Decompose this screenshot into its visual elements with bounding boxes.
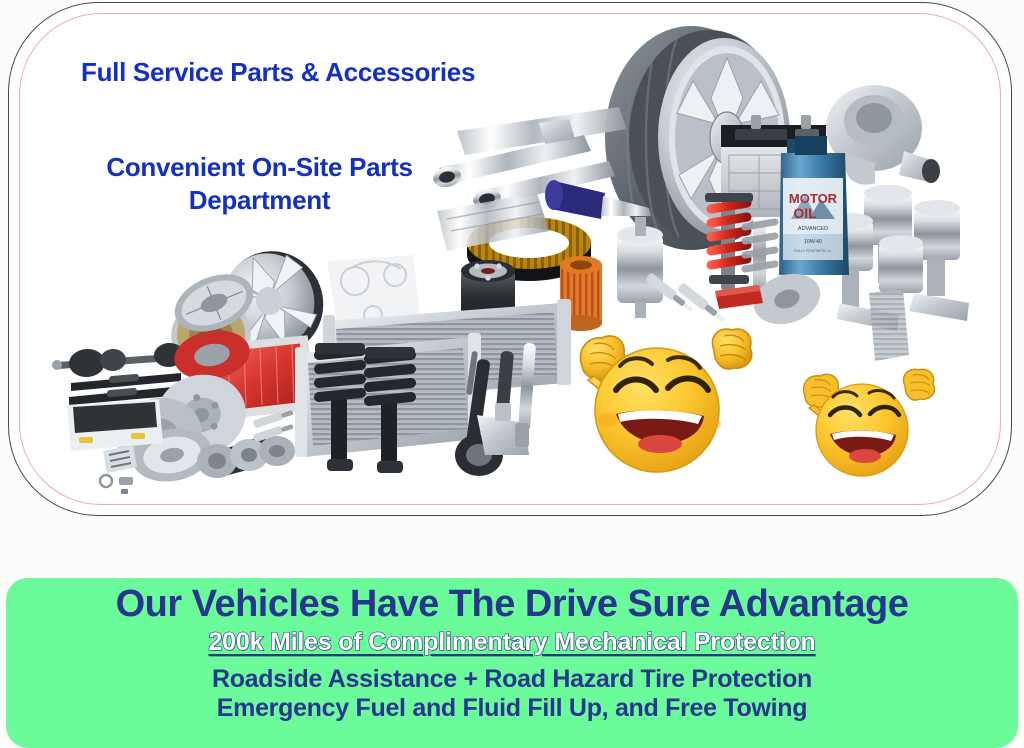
control-module-graphic <box>67 399 163 451</box>
laughing-emoji-small <box>797 368 947 478</box>
right-fist-small <box>904 369 935 400</box>
svg-text:10W-40: 10W-40 <box>804 239 822 245</box>
svg-text:OIL: OIL <box>793 205 817 221</box>
shock-absorber-graphic <box>745 217 775 291</box>
svg-text:MOTOR: MOTOR <box>789 191 838 206</box>
parts-card: Full Service Parts & Accessories Conveni… <box>8 2 1012 516</box>
svg-text:ADVANCED: ADVANCED <box>798 226 828 232</box>
banner-benefit-line-1: Roadside Assistance + Road Hazard Tire P… <box>6 665 1018 694</box>
exhaust-muffler-graphic <box>621 241 665 301</box>
banner-headline: Our Vehicles Have The Drive Sure Advanta… <box>6 585 1018 625</box>
condenser-fins-graphic <box>869 289 909 361</box>
laughing-emoji-large <box>572 328 772 478</box>
banner-subline: 200k Miles of Complimentary Mechanical P… <box>6 629 1018 657</box>
svg-text:FULLY SYNTHETIC 1L: FULLY SYNTHETIC 1L <box>794 249 831 253</box>
page-title: Full Service Parts & Accessories <box>81 57 475 88</box>
misc-hardware-graphic <box>100 445 137 494</box>
banner-benefit-line-2: Emergency Fuel and Fluid Fill Up, and Fr… <box>6 694 1018 723</box>
motor-oil-bottle-graphic: MOTOR OIL ADVANCED 10W-40 FULLY SYNTHETI… <box>779 136 849 275</box>
drive-sure-advantage-banner: Our Vehicles Have The Drive Sure Advanta… <box>6 578 1018 748</box>
subtitle: Convenient On-Site Parts Department <box>72 151 447 218</box>
right-fist <box>712 329 751 369</box>
